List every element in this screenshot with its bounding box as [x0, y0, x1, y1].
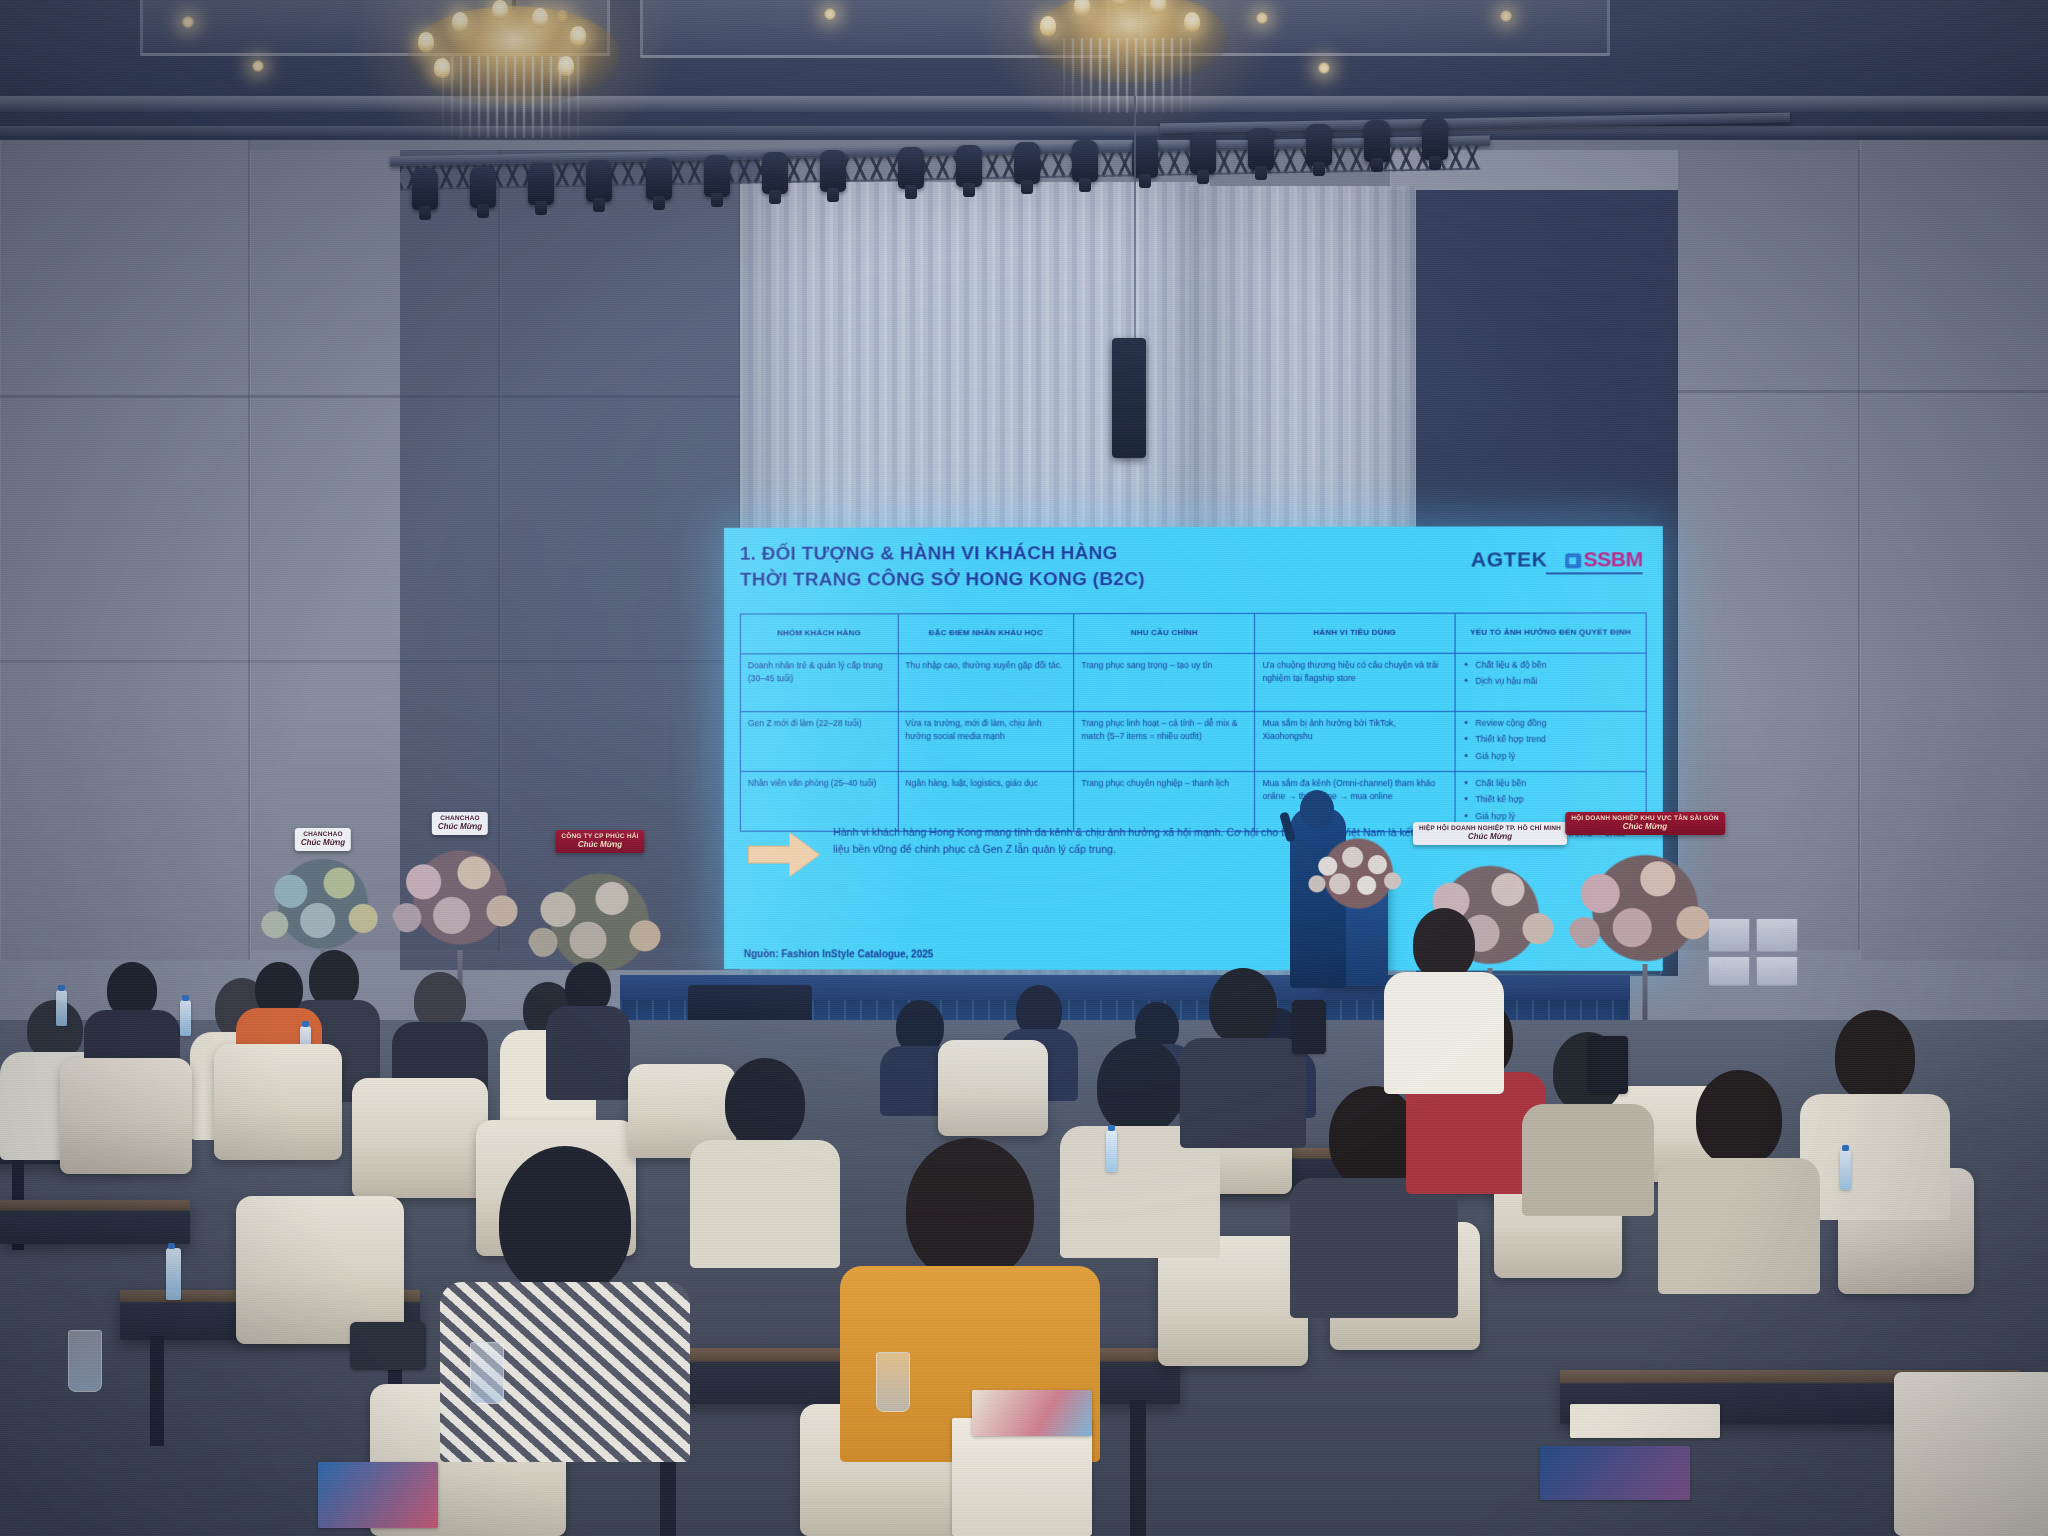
chandelier-crystals [442, 56, 586, 137]
table-header-cell: HÀNH VI TIÊU DÙNG [1255, 613, 1455, 653]
stage-light [762, 152, 788, 194]
banner-sender: CÔNG TY CP PHÚC HẢI [561, 833, 638, 840]
cell-group: Gen Z mới đi làm (22–28 tuổi) [740, 712, 897, 772]
audience-member [546, 962, 630, 1098]
banner-sender: HỘI DOANH NGHIỆP KHU VỰC TÂN SÀI GÒN [1571, 815, 1719, 822]
podium-flower-arrangement [1304, 838, 1412, 912]
flower-stand: HỘI DOANH NGHIỆP KHU VỰC TÂN SÀI GÒN Chú… [1560, 812, 1730, 1022]
conference-hall-photo: EXIT 1. ĐỐI TƯỢNG & HÀNH VI KHÁCH HÀNG T… [0, 0, 2048, 1536]
audience-member [1658, 1070, 1820, 1284]
flower-blooms [256, 856, 390, 960]
chandelier-left [408, 0, 620, 132]
factor-item: Thiết kế hợp trend [1462, 733, 1638, 746]
ceiling-spot-light [824, 8, 836, 20]
slide-logos: AGTEK SSBM [1471, 548, 1643, 572]
chandelier-bulb [492, 0, 508, 20]
wall-panel [0, 140, 250, 960]
audience-member-standing [1384, 908, 1504, 1088]
water-bottle[interactable] [56, 990, 67, 1026]
handbag[interactable] [1894, 1372, 2048, 1536]
printed-brochure[interactable] [972, 1390, 1092, 1436]
water-bottle[interactable] [180, 1000, 191, 1036]
drinking-glass[interactable] [68, 1330, 102, 1392]
banner-greeting: Chúc Mừng [1623, 822, 1667, 831]
table-header-cell: ĐẶC ĐIỂM NHÂN KHẨU HỌC [898, 614, 1074, 654]
audience-member [1180, 968, 1306, 1140]
banner-greeting: Chúc Mừng [301, 838, 345, 847]
arrow-right-icon [748, 833, 819, 877]
ssbm-mark-icon [1565, 553, 1581, 568]
stage-light [646, 158, 672, 200]
person-head [1835, 1010, 1915, 1102]
water-bottle[interactable] [1840, 1150, 1851, 1190]
stage-light [528, 163, 554, 205]
printed-brochure[interactable] [1540, 1446, 1690, 1500]
flower-stand-banner: CHANCHAO Chúc Mừng [295, 828, 351, 851]
ceiling-spot-light [182, 16, 194, 28]
table-header-cell: NHÓM KHÁCH HÀNG [740, 614, 897, 654]
water-bottle[interactable] [1106, 1130, 1117, 1172]
chair[interactable] [938, 1040, 1048, 1136]
cell-needs: Trang phục sang trọng – tạo uy tín [1074, 653, 1255, 711]
wall-panel [1860, 140, 2048, 960]
cell-group: Doanh nhân trẻ & quản lý cấp trung (30–4… [740, 654, 897, 712]
person-head [1209, 968, 1277, 1044]
audience-member [1800, 1010, 1950, 1210]
factor-list: Chất liệu & độ bền Dịch vụ hậu mãi [1462, 659, 1638, 689]
banner-greeting: Chúc Mừng [578, 840, 622, 849]
table-header-row: NHÓM KHÁCH HÀNG ĐẶC ĐIỂM NHÂN KHẨU HỌC N… [740, 613, 1646, 654]
chandelier-crystals [1063, 38, 1196, 113]
person-head [1413, 908, 1475, 980]
flower-blooms [390, 846, 530, 958]
banner-greeting: Chúc Mừng [1468, 832, 1512, 841]
stage-light [704, 155, 730, 197]
smartphone[interactable] [1588, 1036, 1628, 1094]
smartphone[interactable] [350, 1322, 426, 1370]
drinking-glass[interactable] [876, 1352, 910, 1412]
audience-table [0, 1200, 190, 1244]
table-header-cell: YẾU TỐ ẢNH HƯỞNG ĐẾN QUYẾT ĐỊNH [1455, 613, 1646, 653]
chandelier-bulb [1074, 0, 1090, 16]
person-body [546, 1006, 630, 1100]
stage-light [898, 147, 924, 189]
chair[interactable] [60, 1058, 192, 1174]
ssbm-logo-rule [1546, 572, 1643, 574]
person-head [499, 1146, 631, 1296]
chandelier-bulb [532, 8, 548, 28]
stage-light [956, 145, 982, 187]
stage-light [470, 166, 496, 208]
stage-light [586, 160, 612, 202]
cell-group: Nhân viên văn phòng (25–40 tuổi) [740, 771, 897, 831]
ceiling-band [0, 126, 2048, 136]
flower-stand-pole [1643, 964, 1648, 1022]
factor-item: Thiết kế hợp [1462, 793, 1638, 806]
stage-light [1072, 140, 1098, 182]
cell-needs: Trang phục chuyên nghiệp – thanh lịch [1074, 771, 1255, 831]
chandelier-bulb [570, 26, 586, 46]
flower-blooms [1565, 852, 1725, 974]
factor-item: Chất liệu & độ bền [1462, 659, 1638, 672]
table-row: Doanh nhân trẻ & quản lý cấp trung (30–4… [740, 653, 1646, 712]
stage-light [820, 150, 846, 192]
person-body [1180, 1038, 1306, 1148]
drinking-glass[interactable] [470, 1342, 504, 1404]
cell-needs: Trang phục linh hoạt – cá tính – dễ mix … [1074, 711, 1255, 771]
slide-source: Nguồn: Fashion InStyle Catalogue, 2025 [744, 949, 933, 960]
factor-item: Dịch vụ hậu mãi [1462, 675, 1638, 688]
wall-service-box[interactable] [1756, 918, 1798, 952]
presenter-head [1300, 790, 1334, 828]
person-body [1522, 1104, 1654, 1216]
person-head [906, 1138, 1034, 1280]
agtek-logo: AGTEK [1471, 548, 1547, 572]
person-head [1696, 1070, 1782, 1166]
stage-light [1014, 142, 1040, 184]
smartphone[interactable] [1292, 1000, 1326, 1054]
person-body [1290, 1178, 1458, 1318]
banner-sender: CHANCHAO [303, 831, 343, 838]
chandelier-right [1032, 0, 1228, 108]
stage-light [1248, 128, 1274, 170]
person-body [690, 1140, 840, 1268]
factor-item: Giá hợp lý [1462, 750, 1638, 763]
wall-seam [1660, 390, 2048, 393]
wall-service-box[interactable] [1756, 956, 1798, 986]
chair[interactable] [214, 1044, 342, 1160]
stage-light [1306, 124, 1332, 166]
cell-behaviour: Ưa chuộng thương hiệu có câu chuyện và t… [1255, 653, 1455, 711]
ceiling-spot-light [1500, 10, 1512, 22]
person-head [1097, 1038, 1183, 1134]
stage-light [1364, 120, 1390, 162]
ceiling-spot-light [252, 60, 264, 72]
banner-sender: HIỆP HỘI DOANH NGHIỆP TP. HỒ CHÍ MINH [1419, 825, 1561, 832]
stage-light [1422, 118, 1448, 160]
cell-factors: Chất liệu & độ bền Dịch vụ hậu mãi [1455, 653, 1646, 711]
cell-demographics: Thu nhập cao, thường xuyên gặp đối tác. [898, 654, 1074, 712]
stage-light [1190, 132, 1216, 174]
cell-factors: Review cộng đồng Thiết kế hợp trend Giá … [1455, 711, 1646, 771]
ssbm-logo: SSBM [1565, 548, 1642, 572]
water-bottle[interactable] [166, 1248, 181, 1300]
factor-item: Chất liệu bền [1462, 777, 1638, 790]
flower-stand-banner: HỘI DOANH NGHIỆP KHU VỰC TÂN SÀI GÒN Chú… [1565, 812, 1725, 835]
flower-stand-banner: HIỆP HỘI DOANH NGHIỆP TP. HỒ CHÍ MINH Ch… [1413, 822, 1567, 845]
ceiling-band [0, 96, 2048, 112]
table-row: Gen Z mới đi làm (22–28 tuổi) Vừa ra trư… [740, 711, 1646, 771]
person-body [1800, 1094, 1950, 1220]
table-header-cell: NHU CẦU CHÍNH [1074, 613, 1255, 653]
factor-list: Review cộng đồng Thiết kế hợp trend Giá … [1462, 717, 1638, 763]
line-array-speaker [1112, 338, 1146, 458]
chandelier-bulb [1040, 16, 1056, 36]
person-body [1658, 1158, 1820, 1294]
cell-behaviour: Mua sắm bị ảnh hưởng bởi TikTok, Xiaohon… [1255, 711, 1455, 771]
person-body [1384, 972, 1504, 1094]
flower-stand-banner: CÔNG TY CP PHÚC HẢI Chúc Mừng [555, 830, 644, 853]
notepad[interactable] [1570, 1404, 1720, 1438]
banner-sender: CHANCHAO [440, 815, 480, 822]
banner-greeting: Chúc Mừng [438, 822, 482, 831]
cell-demographics: Ngân hàng, luật, logistics, giáo dục [898, 771, 1074, 831]
factor-item: Review cộng đồng [1462, 717, 1638, 730]
ceiling-spot-light [1318, 62, 1330, 74]
ceiling-spot-light [1256, 12, 1268, 24]
chandelier-bulb [1184, 12, 1200, 32]
chandelier-bulb [418, 32, 434, 52]
chandelier-bulb [452, 12, 468, 32]
speaker-rigging-wire [1134, 96, 1136, 346]
person-head [27, 1000, 83, 1060]
table-leg [150, 1336, 164, 1446]
audience-member [690, 1058, 840, 1258]
stage-light [412, 168, 438, 210]
table-leg [1130, 1400, 1146, 1536]
flower-stand-banner: CHANCHAO Chúc Mừng [432, 812, 488, 835]
customer-segment-table: NHÓM KHÁCH HÀNG ĐẶC ĐIỂM NHÂN KHẨU HỌC N… [740, 612, 1647, 832]
ssbm-logo-text: SSBM [1584, 548, 1643, 572]
chandelier-bulb [1150, 0, 1166, 14]
person-head [725, 1058, 805, 1148]
printed-brochure[interactable] [318, 1462, 438, 1528]
cell-demographics: Vừa ra trường, mới đi làm, chịu ảnh hưởn… [898, 712, 1074, 772]
